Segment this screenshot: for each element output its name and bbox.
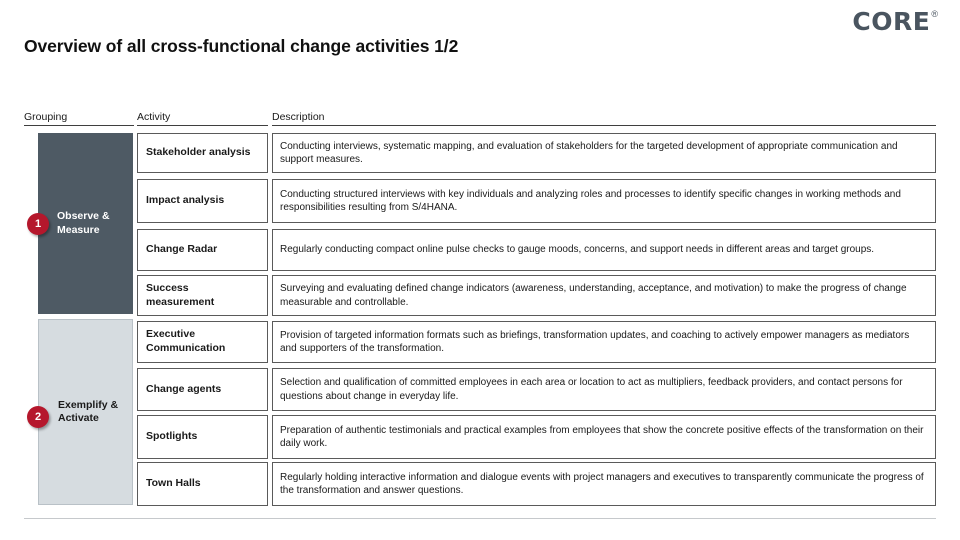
activity-cell[interactable]: Impact analysis xyxy=(137,179,268,223)
registered-trademark-icon: ® xyxy=(931,10,938,19)
column-header-description-label: Description xyxy=(272,111,325,123)
grouping-block-observe-measure[interactable]: Observe & Measure xyxy=(38,133,133,314)
group-number-badge-2: 2 xyxy=(27,406,49,428)
page-title: Overview of all cross-functional change … xyxy=(24,36,458,57)
description-cell[interactable]: Conducting structured interviews with ke… xyxy=(272,179,936,223)
grouping-label: Exemplify & Activate xyxy=(58,399,128,425)
activity-label: Success measurement xyxy=(146,282,259,309)
group-number-badge-1: 1 xyxy=(27,213,49,235)
column-header-grouping: Grouping xyxy=(24,111,134,126)
column-header-activity-label: Activity xyxy=(137,111,170,123)
activity-label: Impact analysis xyxy=(146,194,224,208)
description-cell[interactable]: Surveying and evaluating defined change … xyxy=(272,275,936,316)
activity-label: Spotlights xyxy=(146,430,197,444)
activity-cell[interactable]: Stakeholder analysis xyxy=(137,133,268,173)
description-text: Conducting structured interviews with ke… xyxy=(280,188,928,215)
activity-label: Executive Communication xyxy=(146,328,259,355)
description-text: Selection and qualification of committed… xyxy=(280,376,928,403)
core-logo: CORE ® xyxy=(852,9,938,34)
description-cell[interactable]: Conducting interviews, systematic mappin… xyxy=(272,133,936,173)
activity-label: Change Radar xyxy=(146,243,217,257)
grouping-block-exemplify-activate[interactable]: Exemplify & Activate xyxy=(38,319,133,505)
activity-cell[interactable]: Success measurement xyxy=(137,275,268,316)
column-header-rule xyxy=(137,125,268,127)
description-cell[interactable]: Regularly holding interactive informatio… xyxy=(272,462,936,506)
description-cell[interactable]: Preparation of authentic testimonials an… xyxy=(272,415,936,459)
activity-cell[interactable]: Town Halls xyxy=(137,462,268,506)
description-text: Preparation of authentic testimonials an… xyxy=(280,424,928,451)
description-text: Provision of targeted information format… xyxy=(280,329,928,356)
activity-label: Stakeholder analysis xyxy=(146,146,250,160)
activity-cell[interactable]: Change Radar xyxy=(137,229,268,271)
activity-cell[interactable]: Change agents xyxy=(137,368,268,411)
column-header-rule xyxy=(272,125,936,127)
column-header-grouping-label: Grouping xyxy=(24,111,67,123)
activity-label: Change agents xyxy=(146,383,221,397)
column-header-rule xyxy=(24,125,134,127)
footer-divider xyxy=(24,518,936,519)
description-text: Surveying and evaluating defined change … xyxy=(280,282,928,309)
description-cell[interactable]: Selection and qualification of committed… xyxy=(272,368,936,411)
activity-label: Town Halls xyxy=(146,477,201,491)
description-text: Regularly conducting compact online puls… xyxy=(280,243,874,257)
description-text: Regularly holding interactive informatio… xyxy=(280,471,928,498)
description-cell[interactable]: Provision of targeted information format… xyxy=(272,321,936,363)
logo-wordmark: CORE xyxy=(852,9,930,34)
grouping-label: Observe & Measure xyxy=(57,210,129,236)
description-text: Conducting interviews, systematic mappin… xyxy=(280,140,928,167)
description-cell[interactable]: Regularly conducting compact online puls… xyxy=(272,229,936,271)
activity-cell[interactable]: Spotlights xyxy=(137,415,268,459)
column-header-description: Description xyxy=(272,111,936,126)
activity-cell[interactable]: Executive Communication xyxy=(137,321,268,363)
column-header-activity: Activity xyxy=(137,111,268,126)
